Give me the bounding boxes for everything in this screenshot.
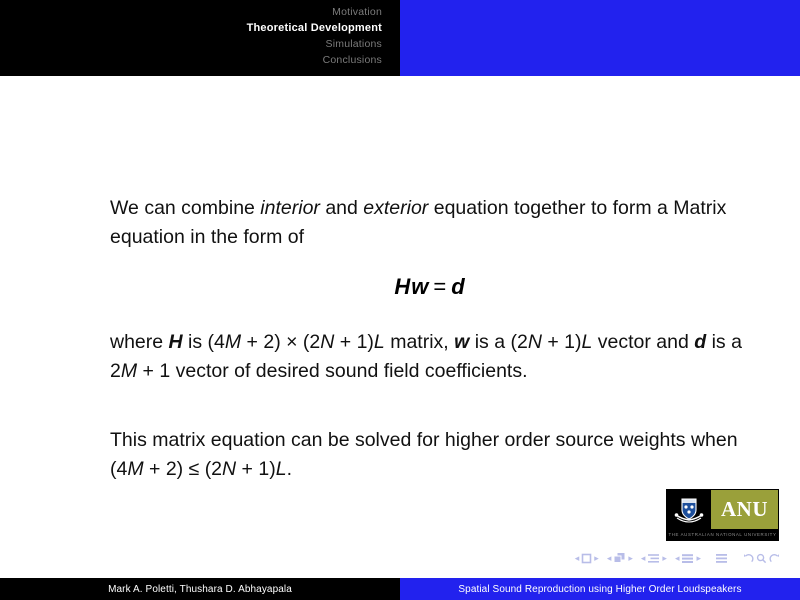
next-section-icon[interactable]: ▸ <box>696 554 701 563</box>
p3-s2: + 2) ≤ (2 <box>144 458 222 480</box>
nav-item-conclusions[interactable]: Conclusions <box>323 52 382 68</box>
forward-icon <box>769 553 780 564</box>
header-accent-bar <box>400 0 800 76</box>
navgroup-section[interactable]: ◂ ▸ <box>675 553 701 564</box>
prev-subsection-icon[interactable]: ◂ <box>641 554 646 563</box>
emphasis-interior: interior <box>260 197 320 219</box>
beamer-navigation-symbols[interactable]: ◂ ▸ ◂ ▸ ◂ ▸ ◂ ▸ <box>575 549 780 567</box>
p2-var-N2: N <box>528 331 542 353</box>
matrix-equation: Hw=d <box>110 274 750 300</box>
p2-var-M2: M <box>121 360 137 382</box>
prev-slide-icon[interactable]: ◂ <box>575 554 580 563</box>
p2-var-N1: N <box>320 331 334 353</box>
slide-header: Motivation Theoretical Development Simul… <box>0 0 800 76</box>
footer-title: Spatial Sound Reproduction using Higher … <box>400 578 800 600</box>
anu-logo-top: ANU <box>667 490 778 529</box>
paragraph-solvability: This matrix equation can be solved for h… <box>110 426 750 484</box>
p2-s8: vector and <box>592 331 694 353</box>
nav-item-theoretical-development[interactable]: Theoretical Development <box>247 20 382 36</box>
prev-section-icon[interactable]: ◂ <box>675 554 680 563</box>
p2-s2: is (4 <box>183 331 225 353</box>
section-lines-icon <box>681 553 694 564</box>
search-icon <box>756 553 767 564</box>
slide-content: We can combine interior and exterior equ… <box>0 76 800 546</box>
p3-s3: + 1) <box>236 458 276 480</box>
p2-s1: where <box>110 331 169 353</box>
p2-s7: + 1) <box>542 331 582 353</box>
equation-vector-w: w <box>411 274 429 299</box>
p2-s4: + 1) <box>334 331 374 353</box>
anu-tagline: THE AUSTRALIAN NATIONAL UNIVERSITY <box>667 529 778 540</box>
slide-box-icon <box>581 553 592 564</box>
section-navigation: Motivation Theoretical Development Simul… <box>0 0 400 76</box>
nav-item-simulations[interactable]: Simulations <box>326 36 382 52</box>
toc-icon <box>715 553 728 564</box>
paragraph-dimensions: where H is (4M + 2) × (2N + 1)L matrix, … <box>110 328 750 386</box>
p2-var-L2: L <box>581 331 592 353</box>
next-slide-icon[interactable]: ▸ <box>594 554 599 563</box>
paragraph-intro-part-b: and <box>320 197 363 219</box>
frames-stack-icon <box>613 552 626 564</box>
next-frame-icon[interactable]: ▸ <box>628 554 633 563</box>
p2-var-M1: M <box>225 331 241 353</box>
back-icon <box>743 553 754 564</box>
prev-frame-icon[interactable]: ◂ <box>607 554 612 563</box>
p2-var-L1: L <box>374 331 385 353</box>
paragraph-intro-part-a: We can combine <box>110 197 260 219</box>
p2-s3: + 2) × (2 <box>241 331 320 353</box>
p3-var-N: N <box>222 458 236 480</box>
p3-s4: . <box>287 458 292 480</box>
equation-vector-d: d <box>451 274 465 299</box>
p2-var-w: w <box>454 331 469 353</box>
navgroup-slide[interactable]: ◂ ▸ <box>575 553 599 564</box>
navgroup-frame[interactable]: ◂ ▸ <box>607 552 633 564</box>
anu-crest-icon <box>667 490 711 529</box>
p3-var-L: L <box>276 458 287 480</box>
p2-var-H: H <box>169 331 183 353</box>
p2-s6: is a (2 <box>469 331 528 353</box>
subsection-lines-icon <box>647 553 660 564</box>
p2-var-d: d <box>694 331 706 353</box>
equation-matrix-H: H <box>394 274 411 299</box>
emphasis-exterior: exterior <box>363 197 428 219</box>
footer-authors: Mark A. Poletti, Thushara D. Abhayapala <box>0 578 400 600</box>
p2-s5: matrix, <box>385 331 454 353</box>
equation-operator: = <box>429 274 451 299</box>
p2-s10: + 1 vector of desired sound field coeffi… <box>137 360 527 382</box>
navgroup-subsection[interactable]: ◂ ▸ <box>641 553 667 564</box>
paragraph-intro: We can combine interior and exterior equ… <box>110 194 750 252</box>
navgroup-history[interactable] <box>743 553 780 564</box>
p3-var-M: M <box>127 458 143 480</box>
anu-acronym: ANU <box>711 490 778 529</box>
nav-item-motivation[interactable]: Motivation <box>332 4 382 20</box>
anu-logo: ANU THE AUSTRALIAN NATIONAL UNIVERSITY <box>666 489 779 541</box>
next-subsection-icon[interactable]: ▸ <box>662 554 667 563</box>
slide-footer: Mark A. Poletti, Thushara D. Abhayapala … <box>0 578 800 600</box>
